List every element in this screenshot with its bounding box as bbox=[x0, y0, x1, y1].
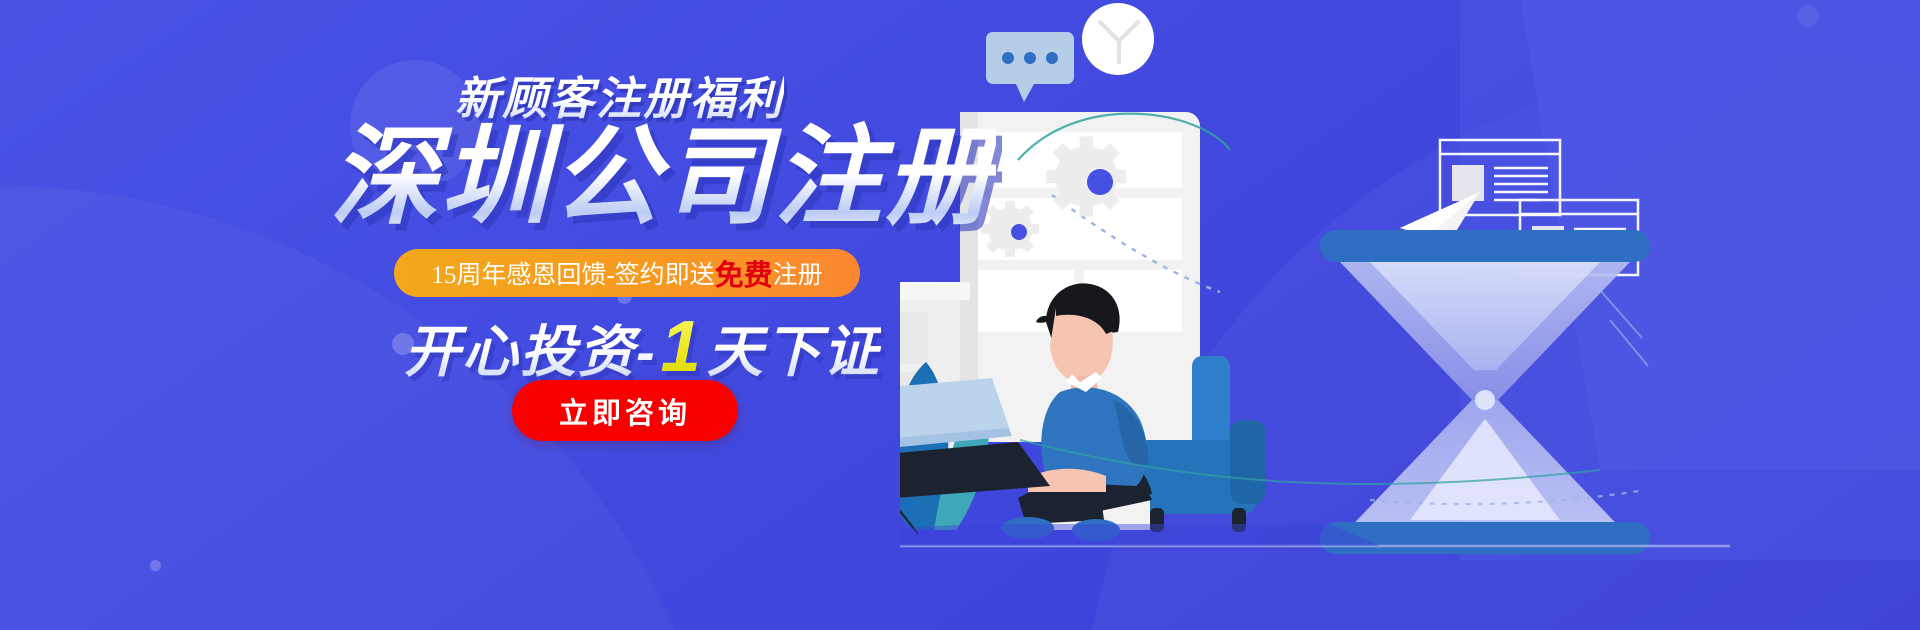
promo-badge: 15周年感恩回馈-签约即送免费注册 bbox=[394, 249, 860, 297]
promo-banner: 新顾客注册福利 深圳公司注册 15周年感恩回馈-签约即送免费注册 开心投资-1天… bbox=[0, 0, 1920, 630]
tagline-after: 天下证 bbox=[707, 320, 881, 383]
consult-now-label: 立即咨询 bbox=[559, 390, 691, 432]
tagline-before: 开心投资- bbox=[404, 320, 657, 383]
clock-icon bbox=[1082, 3, 1154, 75]
banner-content: 新顾客注册福利 深圳公司注册 15周年感恩回馈-签约即送免费注册 开心投资-1天… bbox=[0, 0, 1000, 630]
promo-badge-highlight: 免费 bbox=[715, 252, 773, 294]
illustration bbox=[900, 0, 1920, 630]
promo-badge-suffix: 注册 bbox=[773, 255, 823, 291]
tagline-number: 1 bbox=[657, 307, 707, 387]
gear-large-icon bbox=[1046, 137, 1126, 217]
promo-badge-prefix: 15周年感恩回馈-签约即送 bbox=[431, 255, 714, 291]
consult-now-button[interactable]: 立即咨询 bbox=[512, 380, 738, 441]
page-title: 深圳公司注册 bbox=[330, 120, 996, 233]
tagline: 开心投资-1天下证 bbox=[404, 306, 881, 388]
